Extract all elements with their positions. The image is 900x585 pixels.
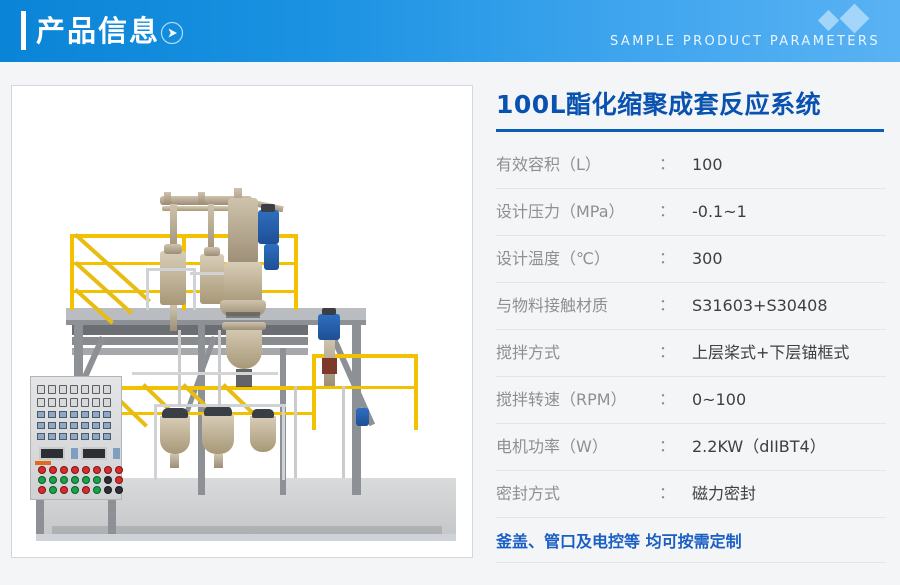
spec-value: 上层桨式+下层锚框式 [692,330,849,376]
spec-colon: ： [659,424,675,470]
spec-colon: ： [659,189,675,235]
spec-row: 与物料接触材质 ： S31603+S30408 [496,283,886,330]
customization-note-row: 釜盖、管口及电控等 均可按需定制 [496,518,886,563]
spec-label: 与物料接触材质 [496,283,608,329]
control-cabinet [30,376,122,500]
spec-colon: ： [659,471,675,517]
diamond-small-icon [818,10,839,31]
diamond-large-icon [840,4,870,34]
spec-colon: ： [659,236,675,282]
spec-row: 设计压力（MPa） ： -0.1~1 [496,189,886,236]
spec-value: 300 [692,236,723,282]
header-diamond-decoration [816,6,882,32]
spec-row: 密封方式 ： 磁力密封 [496,471,886,518]
spec-label: 设计压力（MPa） [496,189,625,235]
spec-label: 设计温度（℃） [496,236,610,282]
spec-value: 100 [692,142,723,188]
spec-row: 有效容积（L） ： 100 [496,142,886,189]
spec-label: 有效容积（L） [496,142,601,188]
spec-row: 搅拌方式 ： 上层桨式+下层锚框式 [496,330,886,377]
spec-value: 磁力密封 [692,471,756,517]
product-image-panel[interactable] [11,85,473,558]
header-accent-bar [21,11,26,50]
spec-label: 搅拌转速（RPM） [496,377,627,423]
spec-value: S31603+S30408 [692,283,828,329]
spec-label: 密封方式 [496,471,560,517]
page-header: 产品信息 SAMPLE PRODUCT PARAMETERS [0,0,900,62]
spec-value: -0.1~1 [692,189,747,235]
spec-colon: ： [659,283,675,329]
title-underline [496,129,884,132]
product-title: 100L酯化缩聚成套反应系统 [496,88,886,122]
spec-row: 设计温度（℃） ： 300 [496,236,886,283]
customization-note: 釜盖、管口及电控等 均可按需定制 [496,528,742,552]
header-title: 产品信息 [36,12,160,50]
spec-row: 电机功率（W） ： 2.2KW（dIIBT4） [496,424,886,471]
spec-value: 2.2KW（dIIBT4） [692,424,826,470]
circle-arrow-right-icon[interactable] [160,21,184,45]
spec-colon: ： [659,330,675,376]
spec-panel: 100L酯化缩聚成套反应系统 有效容积（L） ： 100 设计压力（MPa） ：… [496,88,886,563]
spec-label: 搅拌方式 [496,330,560,376]
spec-table: 有效容积（L） ： 100 设计压力（MPa） ： -0.1~1 设计温度（℃）… [496,142,886,563]
spec-row: 搅拌转速（RPM） ： 0~100 [496,377,886,424]
spec-colon: ： [659,377,675,423]
spec-value: 0~100 [692,377,746,423]
spec-label: 电机功率（W） [496,424,608,470]
product-photo [12,86,472,557]
header-subtitle: SAMPLE PRODUCT PARAMETERS [610,34,880,49]
spec-colon: ： [659,142,675,188]
